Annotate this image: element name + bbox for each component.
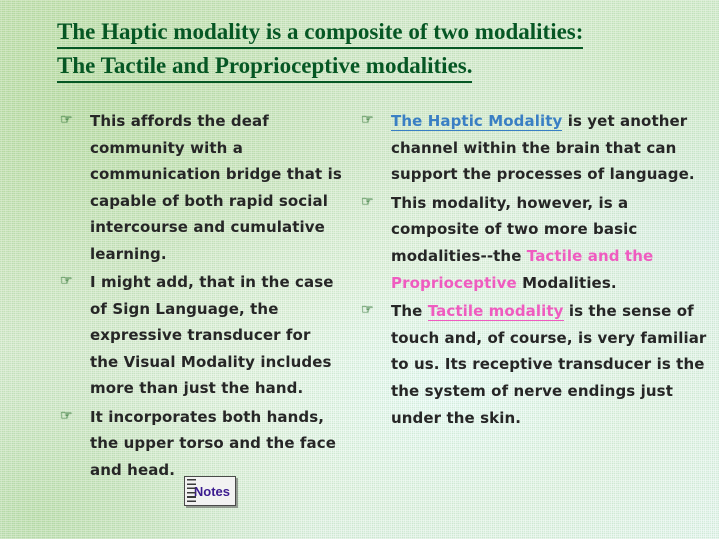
slide-body-columns: ☞ This affords the deaf community with a…	[0, 108, 719, 485]
pointing-hand-bullet-icon: ☞	[60, 111, 84, 129]
slide-title-line-1: The Haptic modality is a composite of tw…	[57, 17, 583, 49]
left-bullet-1-text: This affords the deaf community with a c…	[90, 112, 342, 263]
right-bullet-2: ☞ This modality, however, is a composite…	[361, 190, 709, 296]
text-segment: It incorporates both hands, the upper to…	[90, 408, 336, 479]
right-bullet-1-text: The Haptic Modality is yet another chann…	[391, 112, 695, 183]
slide-title-line-2: The Tactile and Proprioceptive modalitie…	[57, 51, 472, 83]
pointing-hand-bullet-icon: ☞	[60, 407, 84, 425]
right-content-column: ☞ The Haptic Modality is yet another cha…	[349, 108, 719, 485]
left-content-column: ☞ This affords the deaf community with a…	[0, 108, 349, 485]
left-bullet-3: ☞ It incorporates both hands, the upper …	[60, 404, 343, 484]
notes-button[interactable]: Notes	[184, 476, 236, 506]
right-bullet-3-text: The Tactile modality is the sense of tou…	[391, 302, 706, 426]
left-bullet-1: ☞ This affords the deaf community with a…	[60, 108, 343, 267]
highlight-tactile-modality: Tactile modality	[428, 302, 564, 321]
pointing-hand-bullet-icon: ☞	[361, 301, 385, 319]
text-segment: The	[391, 302, 428, 320]
right-bullet-3: ☞ The Tactile modality is the sense of t…	[361, 298, 709, 431]
presentation-slide: The Haptic modality is a composite of tw…	[0, 0, 719, 539]
left-bullet-2-text: I might add, that in the case of Sign La…	[90, 273, 334, 397]
pointing-hand-bullet-icon: ☞	[60, 272, 84, 290]
notes-button-label: Notes	[194, 485, 230, 498]
highlight-haptic-modality: The Haptic Modality	[391, 112, 562, 131]
notepad-spiral-icon	[187, 479, 196, 503]
slide-title: The Haptic modality is a composite of tw…	[57, 17, 669, 85]
pointing-hand-bullet-icon: ☞	[361, 193, 385, 211]
left-bullet-3-text: It incorporates both hands, the upper to…	[90, 408, 336, 479]
right-bullet-1: ☞ The Haptic Modality is yet another cha…	[361, 108, 709, 188]
text-segment: Modalities.	[517, 274, 617, 292]
text-segment: I might add, that in the case of Sign La…	[90, 273, 334, 397]
right-bullet-2-text: This modality, however, is a composite o…	[391, 194, 653, 292]
text-segment: This affords the deaf community with a c…	[90, 112, 342, 263]
pointing-hand-bullet-icon: ☞	[361, 111, 385, 129]
left-bullet-2: ☞ I might add, that in the case of Sign …	[60, 269, 343, 402]
